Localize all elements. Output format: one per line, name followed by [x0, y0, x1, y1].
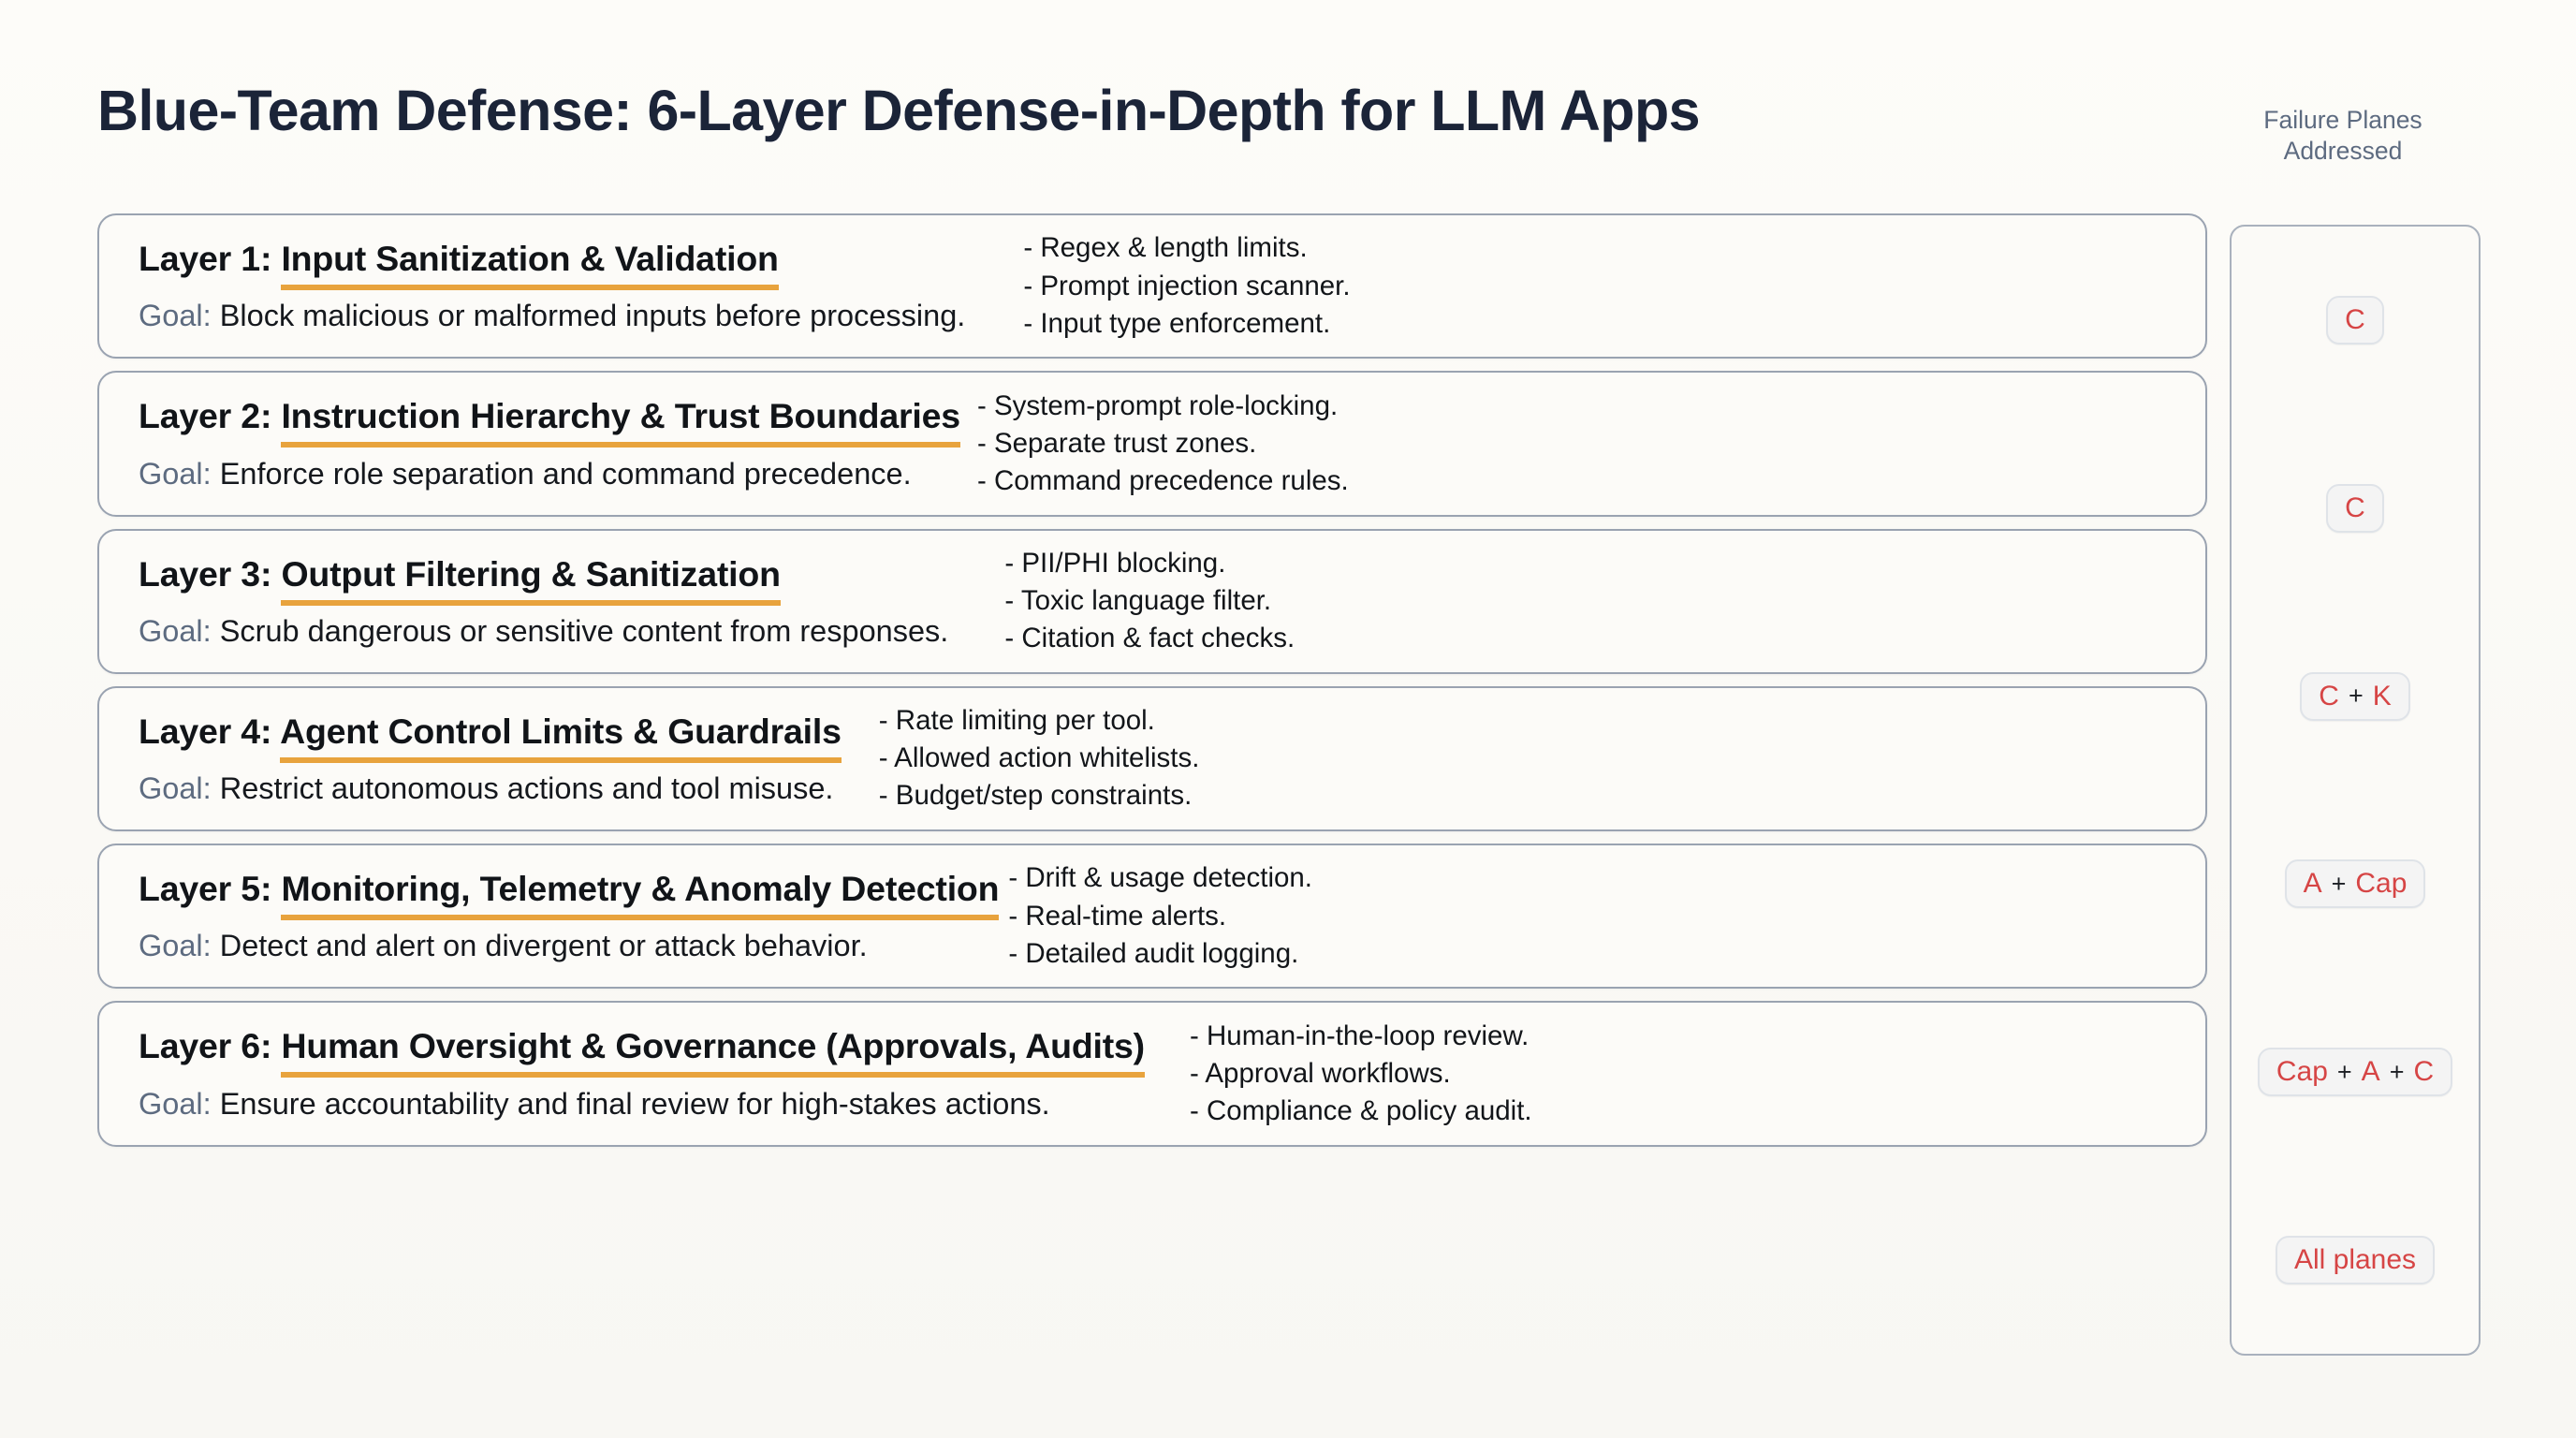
layer-topic: Instruction Hierarchy & Trust Boundaries — [281, 396, 959, 448]
plane-token: A — [2304, 870, 2322, 898]
plane-slot: C — [2232, 227, 2479, 415]
layer-goal: Goal: Scrub dangerous or sensitive conte… — [139, 613, 948, 650]
list-item: - Compliance & policy audit. — [1190, 1093, 2177, 1130]
list-item: - Toxic language filter. — [1004, 582, 2177, 620]
list-item: - Allowed action whitelists. — [879, 740, 2177, 777]
layer-goal: Goal: Detect and alert on divergent or a… — [139, 928, 999, 964]
layer-title: Layer 5: Monitoring, Telemetry & Anomaly… — [139, 868, 999, 909]
layer-controls-list: - PII/PHI blocking. - Toxic language fil… — [1004, 545, 2177, 657]
layer-index: Layer 5: — [139, 869, 271, 908]
layer-card-right: - System-prompt role-locking. - Separate… — [960, 388, 2205, 500]
title-row: Blue-Team Defense: 6-Layer Defense-in-De… — [97, 81, 2250, 155]
layer-card-left: Layer 4: Agent Control Limits & Guardrai… — [99, 688, 842, 829]
layer-topic: Input Sanitization & Validation — [281, 239, 778, 290]
plane-slot: Cap+A+C — [2232, 978, 2479, 1167]
layer-topic: Monitoring, Telemetry & Anomaly Detectio… — [281, 869, 999, 920]
status-badge[interactable]: All planes — [2276, 1236, 2435, 1284]
list-item: - Drift & usage detection. — [1008, 859, 2177, 897]
layer-controls-list: - System-prompt role-locking. - Separate… — [977, 388, 2177, 500]
goal-label: Goal: — [139, 299, 212, 332]
goal-label: Goal: — [139, 771, 212, 805]
layer-title: Layer 3: Output Filtering & Sanitization — [139, 553, 948, 594]
layer-index: Layer 3: — [139, 554, 271, 594]
layer-card-right: - Rate limiting per tool. - Allowed acti… — [842, 702, 2205, 814]
page-title: Blue-Team Defense: 6-Layer Defense-in-De… — [97, 81, 1700, 140]
status-badge[interactable]: C — [2326, 484, 2384, 533]
layer-controls-list: - Rate limiting per tool. - Allowed acti… — [879, 702, 2177, 814]
goal-label: Goal: — [139, 1087, 212, 1121]
plane-token: C — [2413, 1058, 2434, 1086]
goal-text: Enforce role separation and command prec… — [220, 457, 912, 491]
list-item: - Human-in-the-loop review. — [1190, 1018, 2177, 1055]
layer-goal: Goal: Restrict autonomous actions and to… — [139, 770, 842, 807]
plane-plus-separator: + — [2337, 1060, 2352, 1085]
layer-card-right: - Drift & usage detection. - Real-time a… — [999, 859, 2205, 972]
plane-token: All planes — [2294, 1246, 2416, 1274]
list-item: - Real-time alerts. — [1008, 898, 2177, 935]
plane-slot: C — [2232, 415, 2479, 603]
layer-controls-list: - Regex & length limits. - Prompt inject… — [1023, 229, 2177, 342]
layer-topic: Human Oversight & Governance (Approvals,… — [281, 1026, 1145, 1078]
plane-plus-separator: + — [2390, 1060, 2405, 1085]
list-item: - Prompt injection scanner. — [1023, 268, 2177, 305]
list-item: - Citation & fact checks. — [1004, 620, 2177, 657]
failure-planes-heading-line1: Failure Planes — [2217, 105, 2469, 136]
goal-text: Scrub dangerous or sensitive content fro… — [220, 614, 949, 648]
list-item: - Command precedence rules. — [977, 462, 2177, 500]
plane-token: A — [2362, 1058, 2380, 1086]
plane-plus-separator: + — [2349, 683, 2364, 709]
layer-card[interactable]: Layer 3: Output Filtering & Sanitization… — [97, 529, 2207, 674]
plane-token: C — [2345, 494, 2365, 522]
plane-token: C — [2319, 682, 2339, 711]
layer-card[interactable]: Layer 2: Instruction Hierarchy & Trust B… — [97, 371, 2207, 516]
layer-controls-list: - Drift & usage detection. - Real-time a… — [1008, 859, 2177, 972]
layer-card-right: - Regex & length limits. - Prompt inject… — [965, 229, 2205, 342]
goal-text: Ensure accountability and final review f… — [220, 1087, 1050, 1121]
layer-index: Layer 6: — [139, 1026, 271, 1065]
plane-token: Cap — [2276, 1058, 2328, 1086]
plane-slot: A+Cap — [2232, 790, 2479, 978]
plane-slot: C+K — [2232, 602, 2479, 790]
failure-planes-heading: Failure Planes Addressed — [2217, 105, 2469, 168]
layer-card-left: Layer 2: Instruction Hierarchy & Trust B… — [99, 373, 960, 514]
status-badge[interactable]: C+K — [2300, 672, 2409, 721]
layer-index: Layer 2: — [139, 396, 271, 435]
list-item: - Rate limiting per tool. — [879, 702, 2177, 740]
list-item: - Input type enforcement. — [1023, 305, 2177, 343]
goal-text: Detect and alert on divergent or attack … — [220, 929, 868, 962]
layer-card[interactable]: Layer 5: Monitoring, Telemetry & Anomaly… — [97, 844, 2207, 989]
layer-controls-list: - Human-in-the-loop review. - Approval w… — [1190, 1018, 2177, 1130]
plane-slot: All planes — [2232, 1166, 2479, 1354]
goal-text: Restrict autonomous actions and tool mis… — [220, 771, 834, 805]
layer-card-right: - PII/PHI blocking. - Toxic language fil… — [948, 545, 2205, 657]
layer-card[interactable]: Layer 6: Human Oversight & Governance (A… — [97, 1001, 2207, 1146]
status-badge[interactable]: A+Cap — [2285, 859, 2426, 908]
layer-index: Layer 4: — [139, 712, 271, 751]
plane-token: C — [2345, 306, 2365, 334]
layer-card-left: Layer 6: Human Oversight & Governance (A… — [99, 1003, 1145, 1144]
status-badge[interactable]: C — [2326, 296, 2384, 345]
list-item: - Detailed audit logging. — [1008, 935, 2177, 973]
list-item: - PII/PHI blocking. — [1004, 545, 2177, 582]
layer-goal: Goal: Enforce role separation and comman… — [139, 456, 960, 492]
status-badge[interactable]: Cap+A+C — [2258, 1048, 2452, 1096]
layer-goal: Goal: Block malicious or malformed input… — [139, 298, 965, 334]
layer-title: Layer 4: Agent Control Limits & Guardrai… — [139, 711, 842, 752]
layer-topic: Agent Control Limits & Guardrails — [280, 712, 842, 763]
layer-title: Layer 6: Human Oversight & Governance (A… — [139, 1025, 1145, 1066]
layer-card[interactable]: Layer 1: Input Sanitization & Validation… — [97, 213, 2207, 359]
failure-planes-heading-line2: Addressed — [2217, 136, 2469, 167]
layer-title: Layer 1: Input Sanitization & Validation — [139, 238, 965, 279]
list-item: - Regex & length limits. — [1023, 229, 2177, 267]
layer-card-left: Layer 1: Input Sanitization & Validation… — [99, 215, 965, 357]
layer-card-left: Layer 3: Output Filtering & Sanitization… — [99, 531, 948, 672]
list-item: - Budget/step constraints. — [879, 777, 2177, 814]
goal-label: Goal: — [139, 929, 212, 962]
goal-text: Block malicious or malformed inputs befo… — [220, 299, 966, 332]
goal-label: Goal: — [139, 614, 212, 648]
layer-goal: Goal: Ensure accountability and final re… — [139, 1086, 1145, 1123]
layer-card[interactable]: Layer 4: Agent Control Limits & Guardrai… — [97, 686, 2207, 831]
layer-card-left: Layer 5: Monitoring, Telemetry & Anomaly… — [99, 845, 999, 987]
list-item: - System-prompt role-locking. — [977, 388, 2177, 425]
layer-topic: Output Filtering & Sanitization — [281, 554, 780, 606]
slide-canvas: Blue-Team Defense: 6-Layer Defense-in-De… — [0, 0, 2576, 1438]
goal-label: Goal: — [139, 457, 212, 491]
list-item: - Approval workflows. — [1190, 1055, 2177, 1093]
plane-token: Cap — [2355, 870, 2407, 898]
layer-index: Layer 1: — [139, 239, 271, 278]
plane-plus-separator: + — [2332, 872, 2347, 897]
defense-layers-list: Layer 1: Input Sanitization & Validation… — [97, 213, 2207, 1159]
layer-card-right: - Human-in-the-loop review. - Approval w… — [1145, 1018, 2205, 1130]
list-item: - Separate trust zones. — [977, 425, 2177, 462]
plane-token: K — [2373, 682, 2392, 711]
layer-title: Layer 2: Instruction Hierarchy & Trust B… — [139, 395, 960, 436]
failure-planes-panel: C C C+K A+Cap Cap+A+C All planes — [2230, 225, 2481, 1356]
